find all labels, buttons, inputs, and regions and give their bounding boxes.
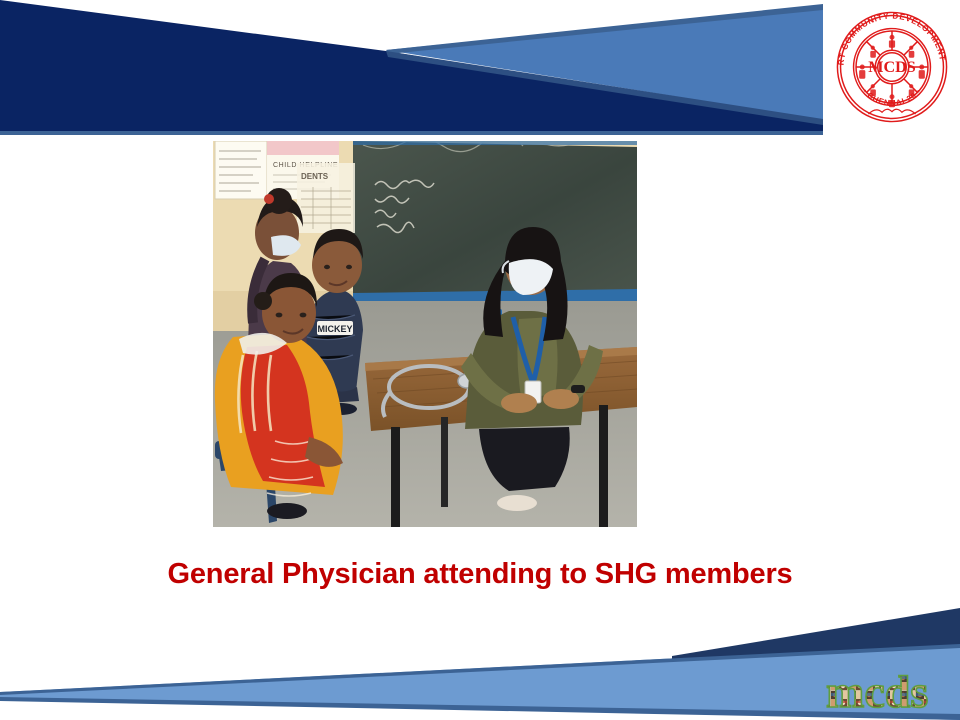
wall-poster-left — [215, 141, 267, 199]
slide-caption: General Physician attending to SHG membe… — [0, 558, 960, 591]
header-bottom-rule — [0, 131, 823, 135]
logo-flourish — [868, 109, 915, 114]
child-shirt-text: MICKEY — [317, 324, 352, 334]
wristwatch — [571, 385, 585, 393]
slide-photograph: CHILD HELPLINE DENTS — [213, 141, 637, 527]
poster-caption-2: DENTS — [301, 172, 329, 181]
footer-decoration-band — [0, 600, 960, 720]
mcds-logo: mcds — [822, 665, 958, 715]
mcds-wordmark-text: mcds — [826, 666, 928, 715]
logo-monogram: MCDS — [868, 58, 915, 75]
organization-logo: MCDS MONTFORT COMMUNITY DEVELOPMENT SOCI… — [823, 0, 960, 133]
wall-chart-right: DENTS — [297, 163, 355, 233]
slide-canvas: MCDS MONTFORT COMMUNITY DEVELOPMENT SOCI… — [0, 0, 960, 720]
header-decoration-band — [0, 0, 823, 135]
